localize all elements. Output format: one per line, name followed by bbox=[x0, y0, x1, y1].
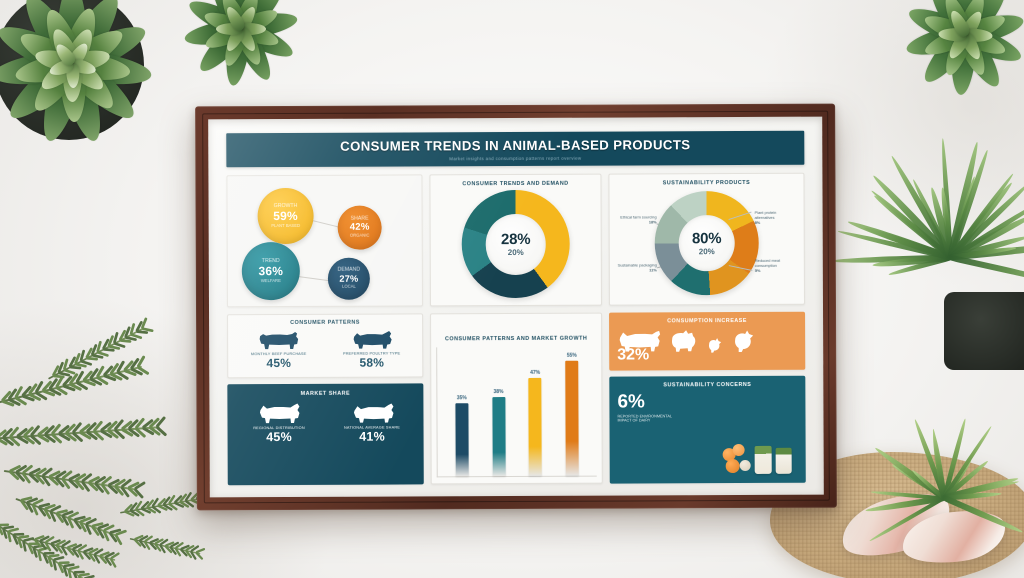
bubble-value: 42% bbox=[350, 223, 370, 233]
bar-chart: 35%38%47%55% bbox=[436, 347, 597, 478]
donut-center-sub: 20% bbox=[699, 247, 715, 256]
bar-value-label: 55% bbox=[567, 353, 577, 359]
page-title: CONSUMER TRENDS IN ANIMAL-BASED PRODUCTS bbox=[236, 138, 794, 154]
right-stats-column: CONSUMPTION INCREASE bbox=[609, 312, 806, 484]
sustainability-concerns-heading: SUSTAINABILITY CONCERNS bbox=[617, 382, 797, 389]
leader-label: Plant protein alternatives bbox=[755, 210, 777, 220]
stat-item: PREFERRED POULTRY TYPE 58% bbox=[327, 328, 416, 369]
consumption-increase-card: CONSUMPTION INCREASE bbox=[609, 312, 805, 371]
bubble-toplabel: DEMAND bbox=[338, 268, 361, 273]
leader-value: 5% bbox=[755, 268, 761, 273]
bar-column: 38% bbox=[492, 347, 506, 476]
stat-label: PREFERRED POULTRY TYPE bbox=[327, 351, 416, 355]
bar-value-label: 35% bbox=[457, 395, 467, 401]
bar-column: 35% bbox=[455, 347, 469, 476]
rosemary-sprig bbox=[4, 468, 136, 490]
consumer-patterns-stats: MONTHLY BEEF PURCHASE 45% PREFERRED POUL… bbox=[234, 328, 416, 370]
stat-item: REGIONAL DISTRIBUTION 45% bbox=[234, 401, 323, 444]
donut-right-heading: SUSTAINABILITY PRODUCTS bbox=[614, 180, 798, 187]
bar-chart-card: CONSUMER PATTERNS AND MARKET GROWTH 35%3… bbox=[430, 312, 603, 484]
key-metrics-bubbles: GROWTH 59% PLANT BASED SHARE 42% ORGANIC… bbox=[226, 174, 423, 307]
top-row: GROWTH 59% PLANT BASED SHARE 42% ORGANIC… bbox=[226, 173, 805, 308]
leader-value: 18% bbox=[649, 219, 657, 224]
bubble-label: LOCAL bbox=[342, 285, 356, 289]
market-share-card: MARKET SHARE REGIONAL DISTRIBUTION 45% bbox=[227, 383, 423, 485]
market-share-heading: MARKET SHARE bbox=[234, 390, 416, 397]
metric-bubble: DEMAND 27% LOCAL bbox=[328, 257, 370, 299]
donut-center-sub: 20% bbox=[508, 248, 524, 257]
bar-value-label: 38% bbox=[493, 389, 503, 395]
cow-icon bbox=[350, 328, 394, 350]
bar bbox=[565, 361, 578, 476]
donut-chart-consumer-trends: 28% 20% bbox=[461, 190, 569, 298]
sustainability-concerns-label: REPORTED ENVIRONMENTAL IMPACT OF DAIRY bbox=[617, 414, 797, 423]
consumption-increase-heading: CONSUMPTION INCREASE bbox=[617, 318, 797, 325]
chicken-icon bbox=[703, 337, 723, 353]
green-garnish-bottomright bbox=[856, 438, 1024, 558]
bubble-toplabel: SHARE bbox=[351, 217, 369, 222]
bubble-connector-2 bbox=[298, 276, 332, 282]
rosemary-sprig bbox=[120, 495, 207, 513]
stat-label: MONTHLY BEEF PURCHASE bbox=[234, 352, 323, 356]
picture-frame: CONSUMER TRENDS IN ANIMAL-BASED PRODUCTS… bbox=[195, 104, 837, 511]
consumer-patterns-heading: CONSUMER PATTERNS bbox=[234, 319, 416, 326]
orange-produce-icon bbox=[733, 444, 745, 456]
bar bbox=[529, 378, 542, 476]
bar bbox=[492, 397, 505, 476]
stat-value: 45% bbox=[234, 356, 323, 370]
market-share-stats: REGIONAL DISTRIBUTION 45% NATIONAL AVERA… bbox=[234, 400, 416, 444]
rosemary-sprig bbox=[0, 424, 160, 440]
cow-icon bbox=[257, 329, 301, 351]
photo-scene: CONSUMER TRENDS IN ANIMAL-BASED PRODUCTS… bbox=[0, 0, 1024, 578]
bubble-toplabel: GROWTH bbox=[274, 204, 298, 209]
produce-icon bbox=[740, 460, 751, 471]
grass-blade bbox=[950, 255, 1024, 287]
donut-leader-right-1: Plant protein alternatives 8% bbox=[755, 211, 797, 226]
donut-center-main: 80% bbox=[692, 230, 722, 247]
donut-center-main: 28% bbox=[501, 231, 531, 248]
donut-center-wrap: 28% 20% bbox=[435, 190, 595, 300]
donut-leader-left-1: Ethical farm sourcing 18% bbox=[617, 215, 657, 225]
herb-plant-top bbox=[176, 0, 306, 91]
cow-icon bbox=[349, 400, 395, 424]
rosemary-sprig bbox=[130, 537, 201, 555]
stat-item: MONTHLY BEEF PURCHASE 45% bbox=[234, 329, 323, 370]
donut-chart-sustainability: 80% 20% bbox=[654, 191, 758, 295]
metric-bubble: SHARE 42% ORGANIC bbox=[338, 205, 382, 249]
left-stats-column: CONSUMER PATTERNS MONTHLY BEEF PURCHASE … bbox=[227, 313, 424, 485]
bubble-value: 36% bbox=[259, 265, 284, 277]
jar-icon bbox=[755, 446, 772, 474]
plant-pot-right bbox=[944, 292, 1024, 370]
rosemary-sprig bbox=[15, 496, 118, 536]
stat-item: NATIONAL AVERAGE SHARE 41% bbox=[327, 400, 416, 443]
sustainability-concerns-card: SUSTAINABILITY CONCERNS 6% REPORTED ENVI… bbox=[609, 376, 805, 484]
donut-center-label: 80% 20% bbox=[654, 191, 758, 295]
metric-bubble: TREND 36% WELFARE bbox=[242, 242, 300, 300]
donut-leader-left-2: Sustainable packaging 11% bbox=[617, 263, 657, 273]
sustainability-concerns-value: 6% bbox=[617, 392, 797, 412]
poster-surface: CONSUMER TRENDS IN ANIMAL-BASED PRODUCTS… bbox=[208, 117, 824, 498]
leader-value: 8% bbox=[755, 220, 761, 225]
garnish-blade bbox=[943, 495, 1024, 535]
herb-plant-topright bbox=[890, 0, 1024, 110]
infographic-poster: CONSUMER TRENDS IN ANIMAL-BASED PRODUCTS… bbox=[208, 117, 824, 498]
stat-value: 45% bbox=[235, 430, 324, 444]
bubble-value: 27% bbox=[339, 274, 358, 283]
leader-value: 11% bbox=[649, 267, 657, 272]
page-subtitle: Market insights and consumption patterns… bbox=[236, 155, 794, 162]
succulent-plant-topleft bbox=[0, 0, 162, 154]
stat-label: REGIONAL DISTRIBUTION bbox=[235, 426, 324, 430]
bubble-value: 59% bbox=[273, 210, 298, 222]
leader-label: Reduced meat consumption bbox=[755, 258, 780, 268]
bubble-label: PLANT BASED bbox=[271, 224, 300, 228]
consumer-trends-donut-card: CONSUMER TRENDS AND DEMAND 28% 20% bbox=[429, 173, 602, 306]
bar-column: 47% bbox=[529, 347, 543, 476]
donut-right-wrap: Ethical farm sourcing 18% Sustainable pa… bbox=[614, 189, 798, 299]
hen-icon bbox=[727, 329, 757, 353]
consumer-patterns-card: CONSUMER PATTERNS MONTHLY BEEF PURCHASE … bbox=[227, 313, 423, 378]
stat-label: NATIONAL AVERAGE SHARE bbox=[328, 425, 417, 429]
stat-value: 41% bbox=[328, 429, 417, 443]
bottom-row: CONSUMER PATTERNS MONTHLY BEEF PURCHASE … bbox=[227, 312, 806, 486]
donut-center-label: 28% 20% bbox=[461, 190, 569, 298]
bar-column: 55% bbox=[565, 347, 579, 476]
bar-value-label: 47% bbox=[530, 370, 540, 376]
poster-title-banner: CONSUMER TRENDS IN ANIMAL-BASED PRODUCTS… bbox=[226, 131, 804, 167]
bar bbox=[455, 403, 468, 476]
jar-icon bbox=[776, 448, 792, 474]
metric-bubble: GROWTH 59% PLANT BASED bbox=[257, 188, 313, 244]
bubble-label: ORGANIC bbox=[350, 234, 370, 238]
cow-icon bbox=[256, 401, 302, 425]
stat-value: 58% bbox=[327, 355, 416, 369]
bar-chart-heading: CONSUMER PATTERNS AND MARKET GROWTH bbox=[436, 336, 596, 343]
orange-produce-icon bbox=[726, 459, 740, 473]
product-imagery bbox=[721, 442, 797, 476]
sustainability-donut-card: SUSTAINABILITY PRODUCTS Ethical farm sou… bbox=[608, 173, 805, 306]
donut-leader-right-2: Reduced meat consumption 5% bbox=[755, 259, 797, 274]
pig-icon bbox=[665, 329, 699, 353]
bubble-label: WELFARE bbox=[261, 279, 281, 283]
donut-center-heading: CONSUMER TRENDS AND DEMAND bbox=[435, 181, 595, 188]
bubble-toplabel: TREND bbox=[262, 259, 280, 264]
